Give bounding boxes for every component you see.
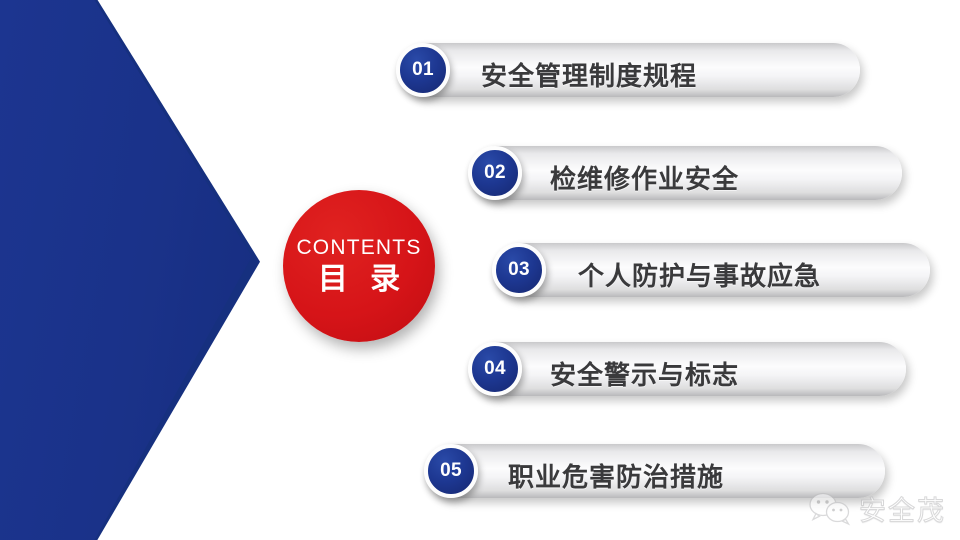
contents-circle: CONTENTS 目 录: [283, 190, 435, 342]
watermark-text: 安全茂: [859, 489, 946, 528]
wechat-icon: [809, 492, 851, 526]
list-item-label-03[interactable]: 个人防护与事故应急: [578, 256, 821, 293]
list-item-badge-02[interactable]: 02: [468, 146, 522, 200]
slide-canvas: CONTENTS 目 录 01 安全管理制度规程 02 检维修作业安全 03 个…: [0, 0, 960, 540]
left-decoration: [0, 0, 270, 540]
list-item-label-05[interactable]: 职业危害防治措施: [508, 457, 724, 494]
chevron-front-shape: [0, 0, 252, 540]
list-item-badge-01[interactable]: 01: [396, 43, 450, 97]
list-item-label-02[interactable]: 检维修作业安全: [550, 159, 739, 196]
watermark: 安全茂: [809, 489, 946, 528]
list-item-badge-04[interactable]: 04: [468, 342, 522, 396]
list-item-badge-03[interactable]: 03: [492, 243, 546, 297]
list-item-badge-05[interactable]: 05: [424, 444, 478, 498]
contents-english-label: CONTENTS: [296, 237, 421, 258]
list-item-label-01[interactable]: 安全管理制度规程: [481, 56, 697, 93]
list-item-label-04[interactable]: 安全警示与标志: [550, 355, 739, 392]
contents-chinese-label: 目 录: [311, 265, 407, 295]
